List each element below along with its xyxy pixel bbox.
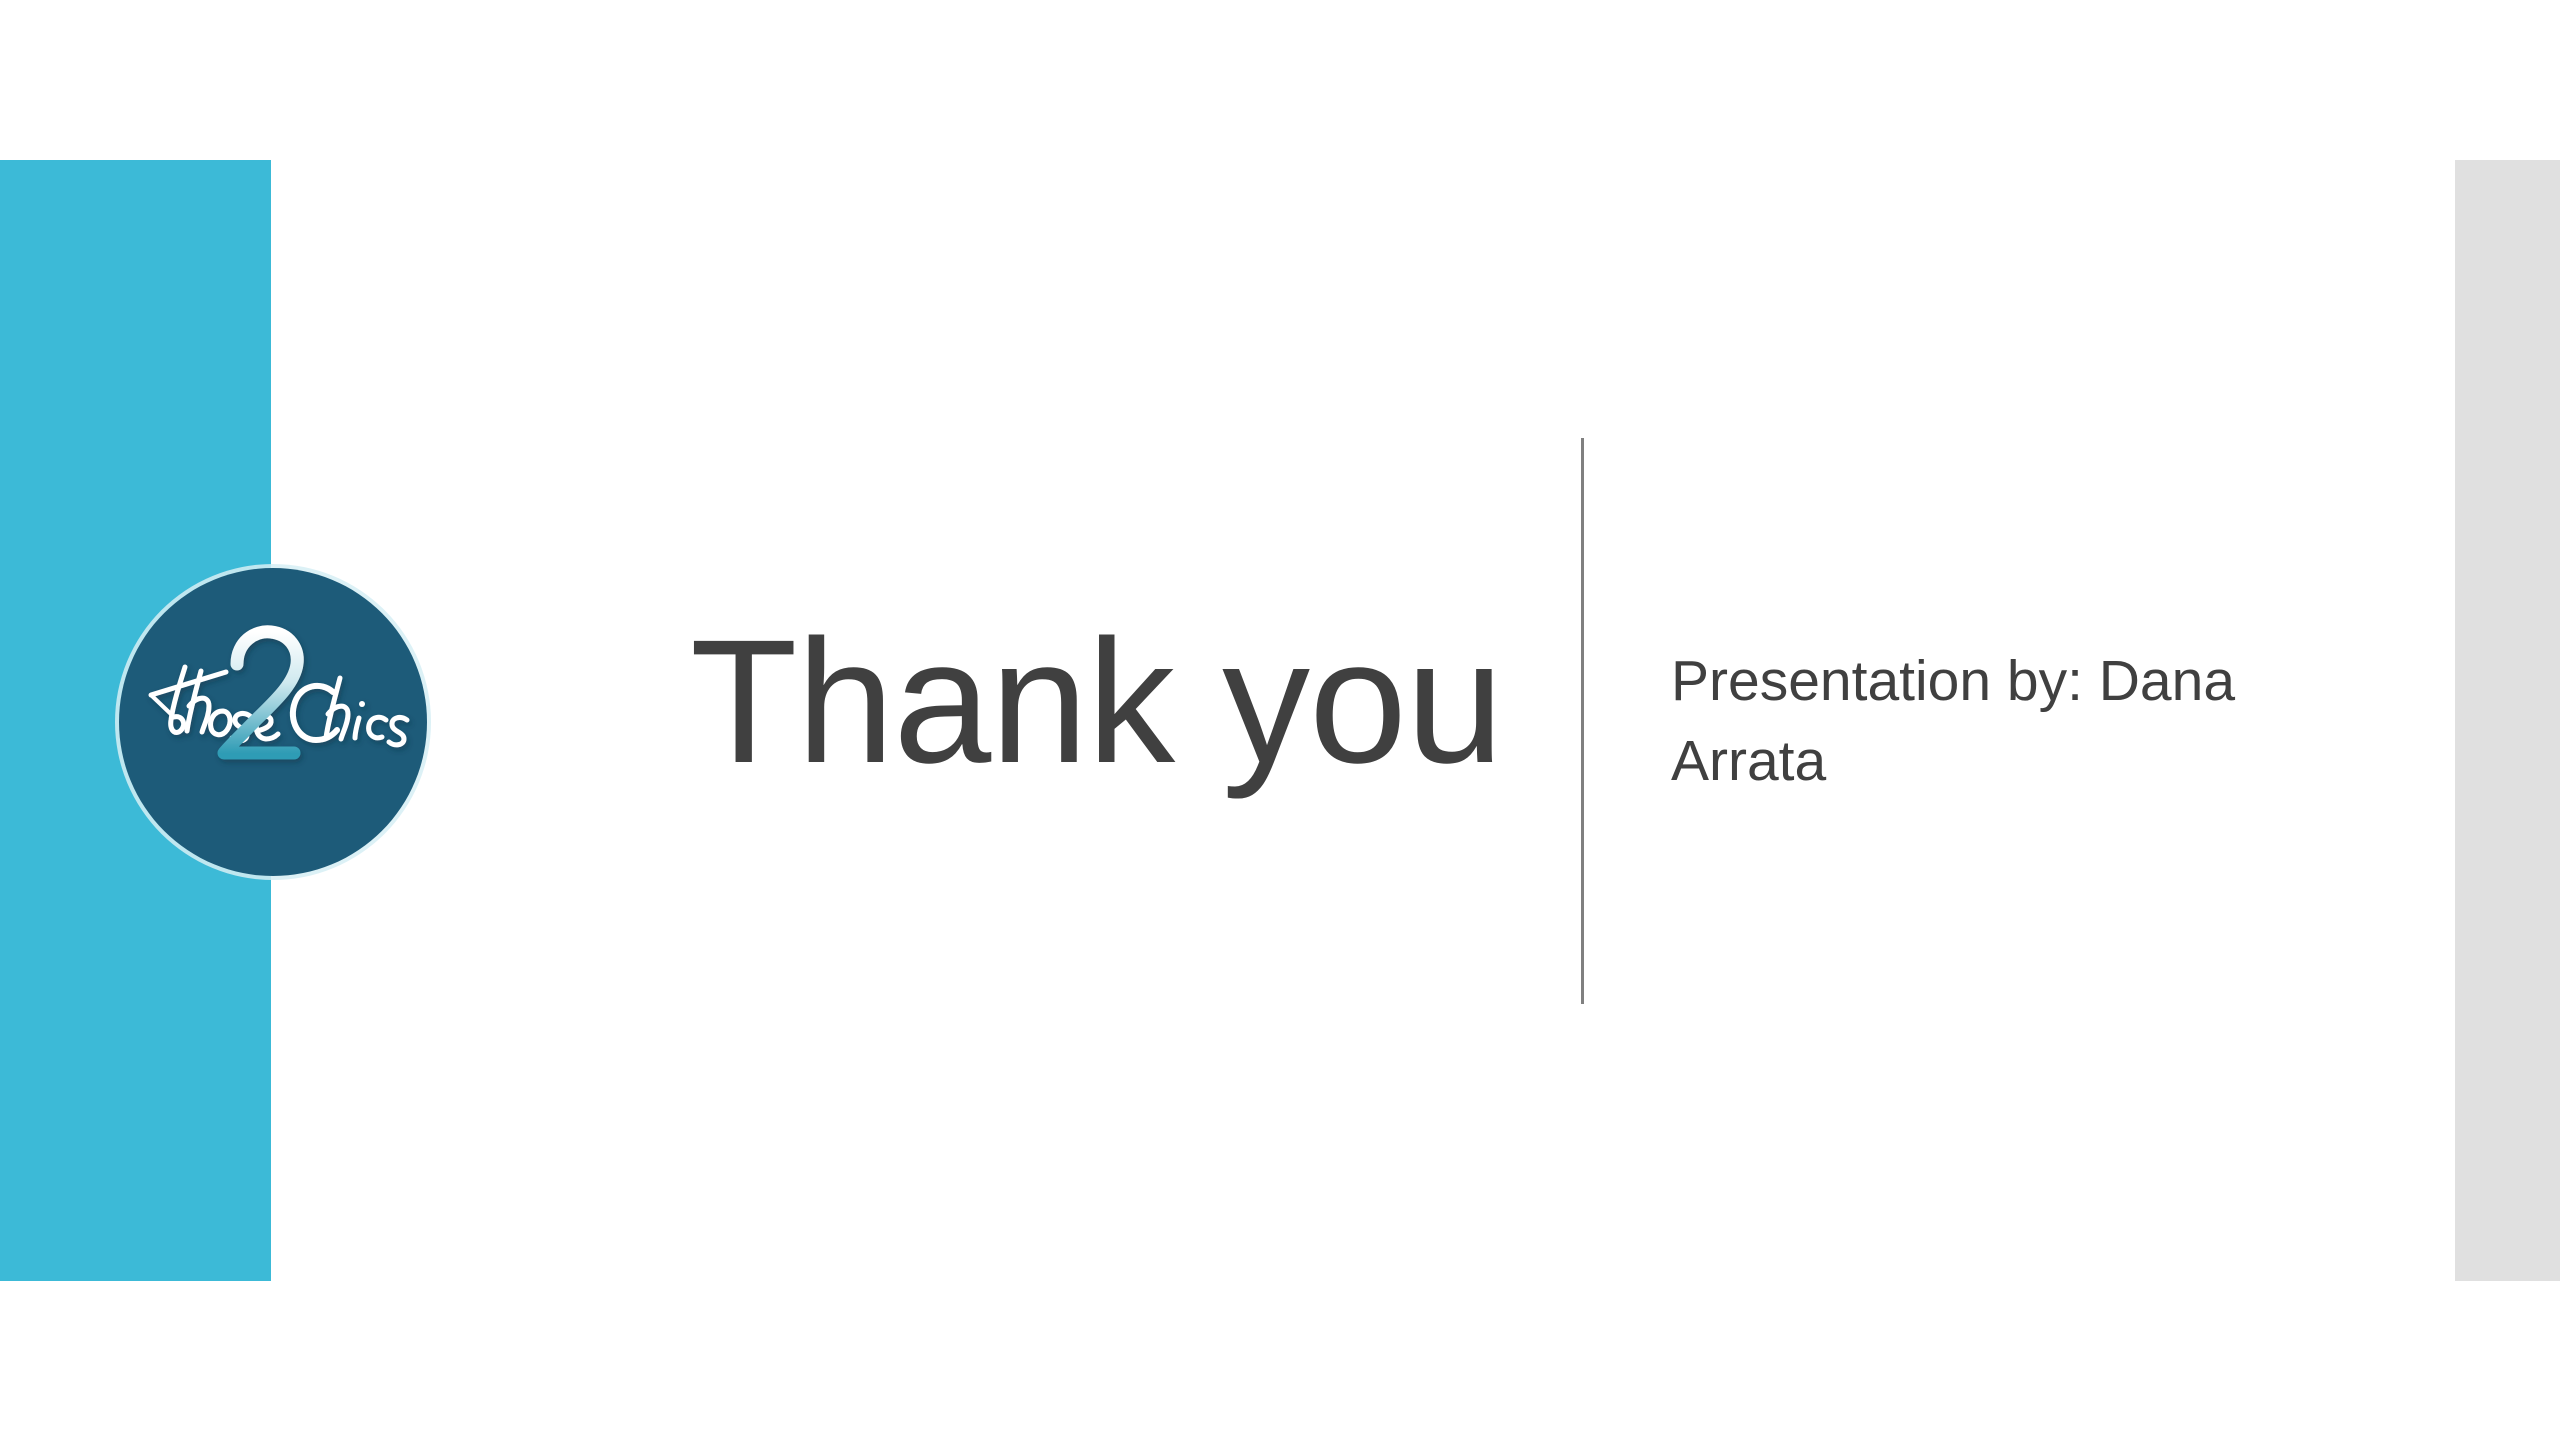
- subtitle-block: Presentation by: Dana Arrata: [1671, 641, 2371, 802]
- title-block: Thank you: [690, 614, 1550, 790]
- slide-canvas: Thank you Presentation by: Dana Arrata: [0, 0, 2560, 1440]
- slide-title: Thank you: [690, 614, 1550, 790]
- vertical-divider: [1581, 438, 1584, 1004]
- those-2-chics-logo-icon: [119, 568, 427, 876]
- brand-logo-badge: [119, 568, 427, 876]
- right-side-panel: [2455, 160, 2560, 1281]
- presenter-credit: Presentation by: Dana Arrata: [1671, 641, 2371, 802]
